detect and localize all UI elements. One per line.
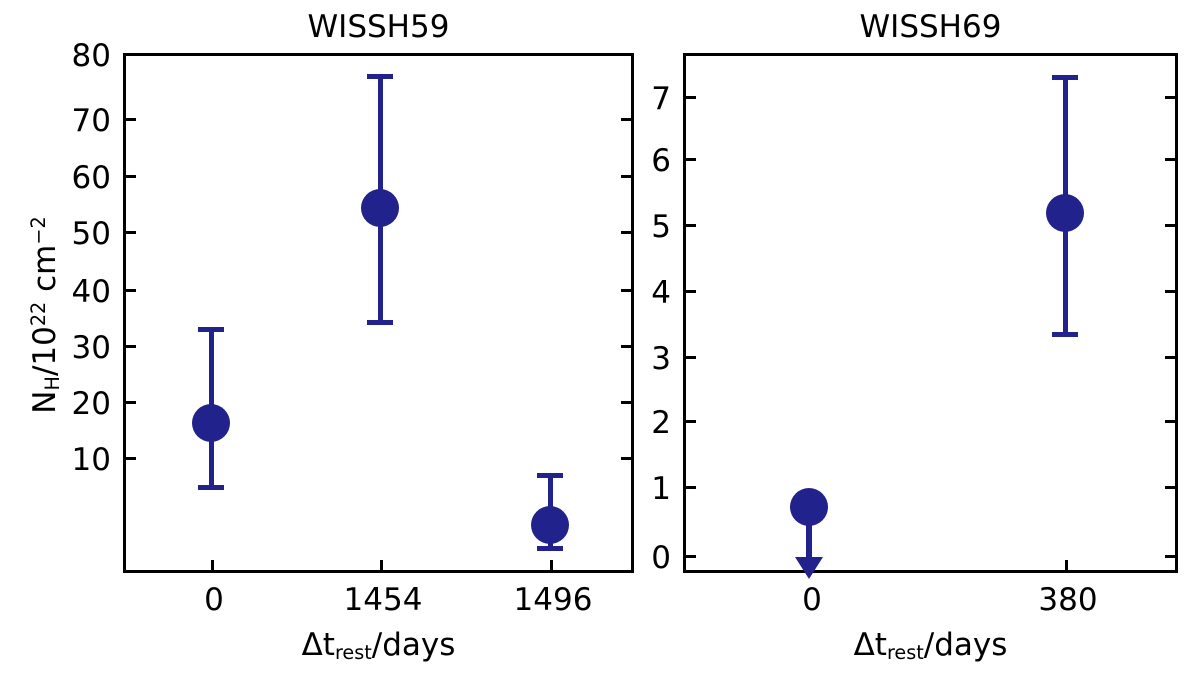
ytick-right-mirror-80 [621, 53, 634, 56]
ytick-right-mirror-2 [1165, 420, 1178, 423]
panel-wissh69: WISSH69 7 6 5 4 3 2 1 0 [683, 53, 1178, 573]
ytick-right-7: 7 [683, 96, 696, 99]
ytick-right-mirror-20 [621, 401, 634, 404]
ytick-label-50: 50 [72, 216, 111, 252]
errorbar-cap-lower [1052, 332, 1078, 337]
ytick-right-mirror-10 [621, 457, 634, 460]
errorbar-cap-upper [537, 473, 563, 478]
errorbar-cap-upper [1052, 75, 1078, 80]
xaxis-label-right: Δtrest/days [683, 627, 1178, 663]
xtick-left-1496: 1496 [550, 560, 553, 573]
marker-dot [531, 506, 569, 544]
panel-title-right: WISSH69 [683, 9, 1178, 45]
xtick-label-1454: 1454 [344, 582, 423, 618]
ytick-right-mirror-30 [621, 345, 634, 348]
ytick-left-20: 20 [123, 401, 136, 404]
yaxis-label: NH/1022 cm−2 [27, 150, 63, 480]
figure-canvas: WISSH59 80 70 60 50 40 30 20 10 [0, 0, 1200, 686]
errorbar-cap-upper [367, 74, 393, 79]
ytick-right-mirror-5 [1165, 224, 1178, 227]
yaxis-label-tail: cm [27, 245, 63, 302]
xtick-label-380: 380 [1038, 582, 1097, 618]
ytick-label-5: 5 [651, 209, 671, 245]
ytick-right-mirror-3 [1165, 356, 1178, 359]
xtick-right-380: 380 [1065, 560, 1068, 573]
ytick-right-mirror-7 [1165, 96, 1178, 99]
ytick-label-70: 70 [72, 103, 111, 139]
xaxis-label-pre: Δt [302, 627, 335, 663]
ytick-label-10: 10 [72, 442, 111, 478]
ytick-label-6: 6 [651, 143, 671, 179]
ytick-label-4: 4 [651, 275, 671, 311]
panel-wissh59: WISSH59 80 70 60 50 40 30 20 10 [123, 53, 634, 573]
errorbar-cap-lower [367, 320, 393, 325]
ytick-right-4: 4 [683, 290, 696, 293]
ytick-right-5: 5 [683, 224, 696, 227]
ytick-right-mirror-40 [621, 289, 634, 292]
ytick-left-80: 80 [123, 53, 136, 56]
ytick-right-mirror-1 [1165, 486, 1178, 489]
ytick-label-2: 2 [651, 405, 671, 441]
xtick-label-0: 0 [204, 582, 224, 618]
ytick-left-50: 50 [123, 231, 136, 234]
panel-title-left: WISSH59 [123, 9, 634, 45]
xaxis-label-post: /days [924, 627, 1008, 663]
errorbar-cap-lower [198, 485, 224, 490]
ytick-label-30: 30 [72, 330, 111, 366]
marker-dot [790, 488, 828, 526]
ytick-right-1: 1 [683, 486, 696, 489]
ytick-label-1: 1 [651, 471, 671, 507]
xaxis-label-sub: rest [887, 641, 924, 664]
errorbar-cap-lower [537, 546, 563, 551]
yaxis-label-sup-22: 22 [27, 302, 50, 326]
ytick-left-60: 60 [123, 175, 136, 178]
ytick-right-6: 6 [683, 158, 696, 161]
xaxis-label-pre: Δt [854, 627, 887, 663]
marker-dot [192, 404, 230, 442]
yaxis-label-sup-minus2: −2 [27, 216, 50, 244]
ytick-label-60: 60 [72, 160, 111, 196]
yaxis-label-sub-h: H [41, 376, 64, 390]
xtick-left-1454: 1454 [380, 560, 383, 573]
ytick-right-mirror-6 [1165, 158, 1178, 161]
ytick-right-mirror-60 [621, 175, 634, 178]
ytick-label-7: 7 [651, 81, 671, 117]
xtick-label-1496: 1496 [514, 582, 593, 618]
upper-limit-arrow-head-icon [795, 557, 823, 579]
ytick-left-30: 30 [123, 345, 136, 348]
xaxis-label-post: /days [372, 627, 456, 663]
errorbar-cap-upper [198, 327, 224, 332]
axes-frame-right [683, 53, 1178, 573]
ytick-left-70: 70 [123, 118, 136, 121]
yaxis-label-mid: /10 [27, 326, 63, 376]
yaxis-label-pre: N [27, 391, 63, 414]
xtick-left-0: 0 [211, 560, 214, 573]
ytick-right-3: 3 [683, 356, 696, 359]
ytick-right-0: 0 [683, 555, 696, 558]
xaxis-label-sub: rest [335, 641, 372, 664]
marker-dot [361, 189, 399, 227]
ytick-right-mirror-70 [621, 118, 634, 121]
ytick-left-10: 10 [123, 457, 136, 460]
ytick-label-80: 80 [72, 38, 111, 74]
ytick-label-40: 40 [72, 274, 111, 310]
ytick-right-2: 2 [683, 420, 696, 423]
ytick-right-mirror-4 [1165, 290, 1178, 293]
marker-dot [1046, 194, 1084, 232]
ytick-label-3: 3 [651, 341, 671, 377]
ytick-label-0: 0 [651, 540, 671, 576]
ytick-left-40: 40 [123, 289, 136, 292]
xaxis-label-left: Δtrest/days [123, 627, 634, 663]
ytick-right-mirror-0 [1165, 555, 1178, 558]
ytick-right-mirror-50 [621, 231, 634, 234]
xtick-label-0: 0 [802, 582, 822, 618]
ytick-label-20: 20 [72, 386, 111, 422]
